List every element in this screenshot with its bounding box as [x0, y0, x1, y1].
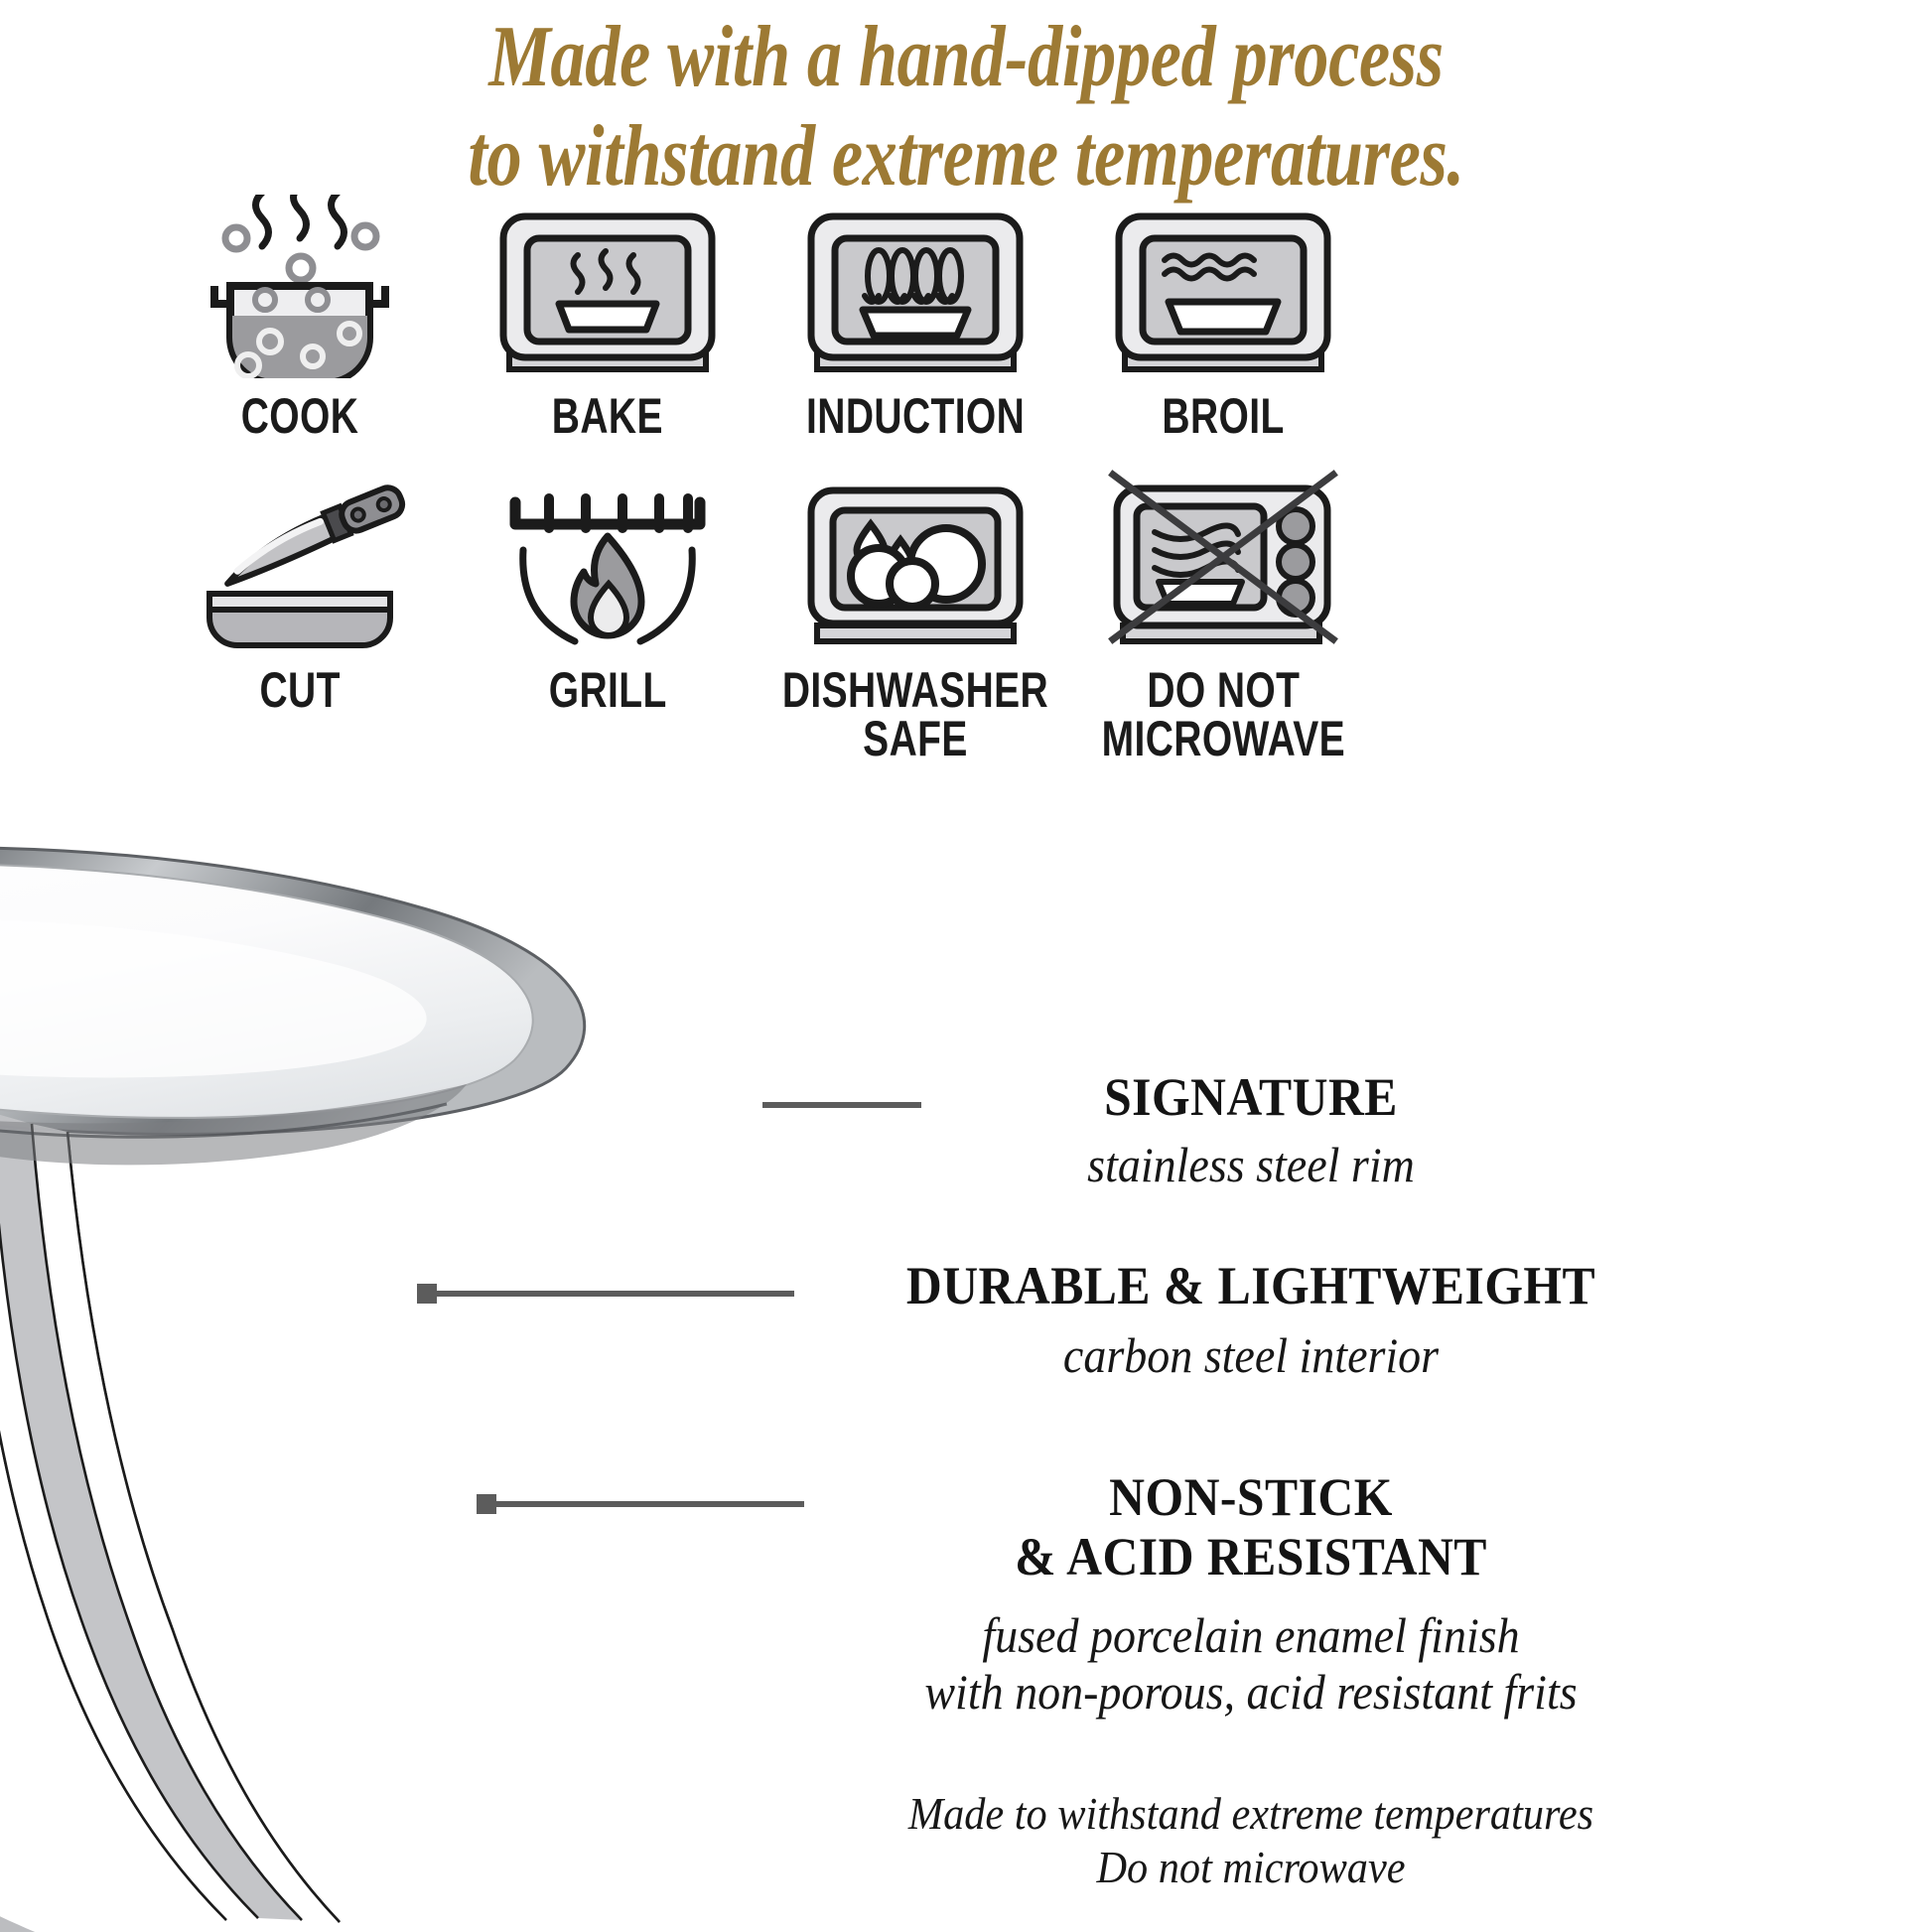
feature-broil-label: BROIL — [1162, 392, 1284, 441]
callout-signature-subtext: stainless steel rim — [959, 1140, 1544, 1189]
headline-line-1: Made with a hand-dipped process — [488, 9, 1444, 105]
dishwasher-safe-icon — [801, 459, 1030, 652]
feature-do-not-microwave-label: DO NOT MICROWAVE — [1101, 666, 1344, 763]
microwave-label-line-2: MICROWAVE — [1101, 711, 1344, 766]
feature-induction-label: INDUCTION — [806, 392, 1025, 441]
cook-icon — [171, 195, 429, 378]
callout-signature-heading: SIGNATURE — [959, 1070, 1544, 1124]
callout-nonstick-heading: NON-STICK & ACID RESISTANT — [803, 1467, 1699, 1587]
microwave-label-line-1: DO NOT — [1147, 662, 1300, 718]
callout-nonstick-subtext: fused porcelain enamel finish with non-p… — [803, 1607, 1699, 1721]
feature-icon-row-2: CUT — [149, 459, 1777, 763]
broil-icon — [1109, 195, 1337, 378]
callout-durable-lightweight: DURABLE & LIGHTWEIGHT carbon steel inter… — [755, 1259, 1747, 1380]
feature-cut-label: CUT — [259, 666, 340, 715]
feature-do-not-microwave: DO NOT MICROWAVE — [1072, 459, 1374, 763]
feature-dishwasher-safe-label: DISHWASHER SAFE — [782, 666, 1048, 763]
callout-nonstick-heading-line-2: & ACID RESISTANT — [1015, 1527, 1487, 1587]
callout-non-stick-acid-resistant: NON-STICK & ACID RESISTANT fused porcela… — [764, 1467, 1737, 1721]
feature-broil: BROIL — [1072, 195, 1374, 441]
callout-signature: SIGNATURE stainless steel rim — [933, 1070, 1569, 1189]
callout-durable-subtext: carbon steel interior — [794, 1330, 1708, 1380]
feature-icon-row-1: COOK BA — [149, 195, 1777, 441]
footer-line-1: Made to withstand extreme temperatures — [908, 1788, 1593, 1839]
dishwasher-label-line-2: SAFE — [863, 711, 968, 766]
leader-marker-nonstick — [477, 1494, 496, 1514]
leader-line-signature — [762, 1102, 921, 1108]
footer-text: Made to withstand extreme temperatures D… — [740, 1787, 1762, 1895]
callout-nonstick-subtext-line-2: with non-porous, acid resistant frits — [924, 1664, 1577, 1720]
leader-line-durable — [417, 1291, 794, 1297]
feature-grill: GRILL — [457, 459, 759, 763]
callout-nonstick-heading-line-1: NON-STICK — [1109, 1467, 1393, 1527]
feature-icon-grid: COOK BA — [149, 195, 1777, 763]
induction-icon — [801, 195, 1030, 378]
product-bowl-illustration — [0, 814, 685, 1932]
callout-nonstick-subtext-line-1: fused porcelain enamel finish — [982, 1607, 1519, 1663]
leader-line-nonstick — [477, 1501, 804, 1507]
footer-line-2: Do not microwave — [1096, 1842, 1405, 1892]
grill-icon — [493, 459, 722, 652]
feature-induction: INDUCTION — [764, 195, 1066, 441]
infographic-canvas: Made with a hand-dipped process to withs… — [0, 0, 1932, 1932]
feature-dishwasher-safe: DISHWASHER SAFE — [764, 459, 1066, 763]
cut-icon — [176, 459, 424, 652]
feature-cook: COOK — [149, 195, 451, 441]
headline-line-2: to withstand extreme temperatures. — [194, 113, 1739, 201]
feature-bake-label: BAKE — [552, 392, 663, 441]
feature-cook-label: COOK — [241, 392, 359, 441]
feature-bake: BAKE — [457, 195, 759, 441]
footer-note: Made to withstand extreme temperatures D… — [695, 1787, 1807, 1895]
page-title: Made with a hand-dipped process to withs… — [194, 14, 1739, 201]
bake-icon — [493, 195, 722, 378]
leader-marker-durable — [417, 1284, 437, 1304]
dishwasher-label-line-1: DISHWASHER — [782, 662, 1048, 718]
feature-cut: CUT — [149, 459, 451, 763]
feature-grill-label: GRILL — [549, 666, 667, 715]
do-not-microwave-icon — [1099, 459, 1347, 652]
callout-durable-heading: DURABLE & LIGHTWEIGHT — [794, 1259, 1708, 1312]
